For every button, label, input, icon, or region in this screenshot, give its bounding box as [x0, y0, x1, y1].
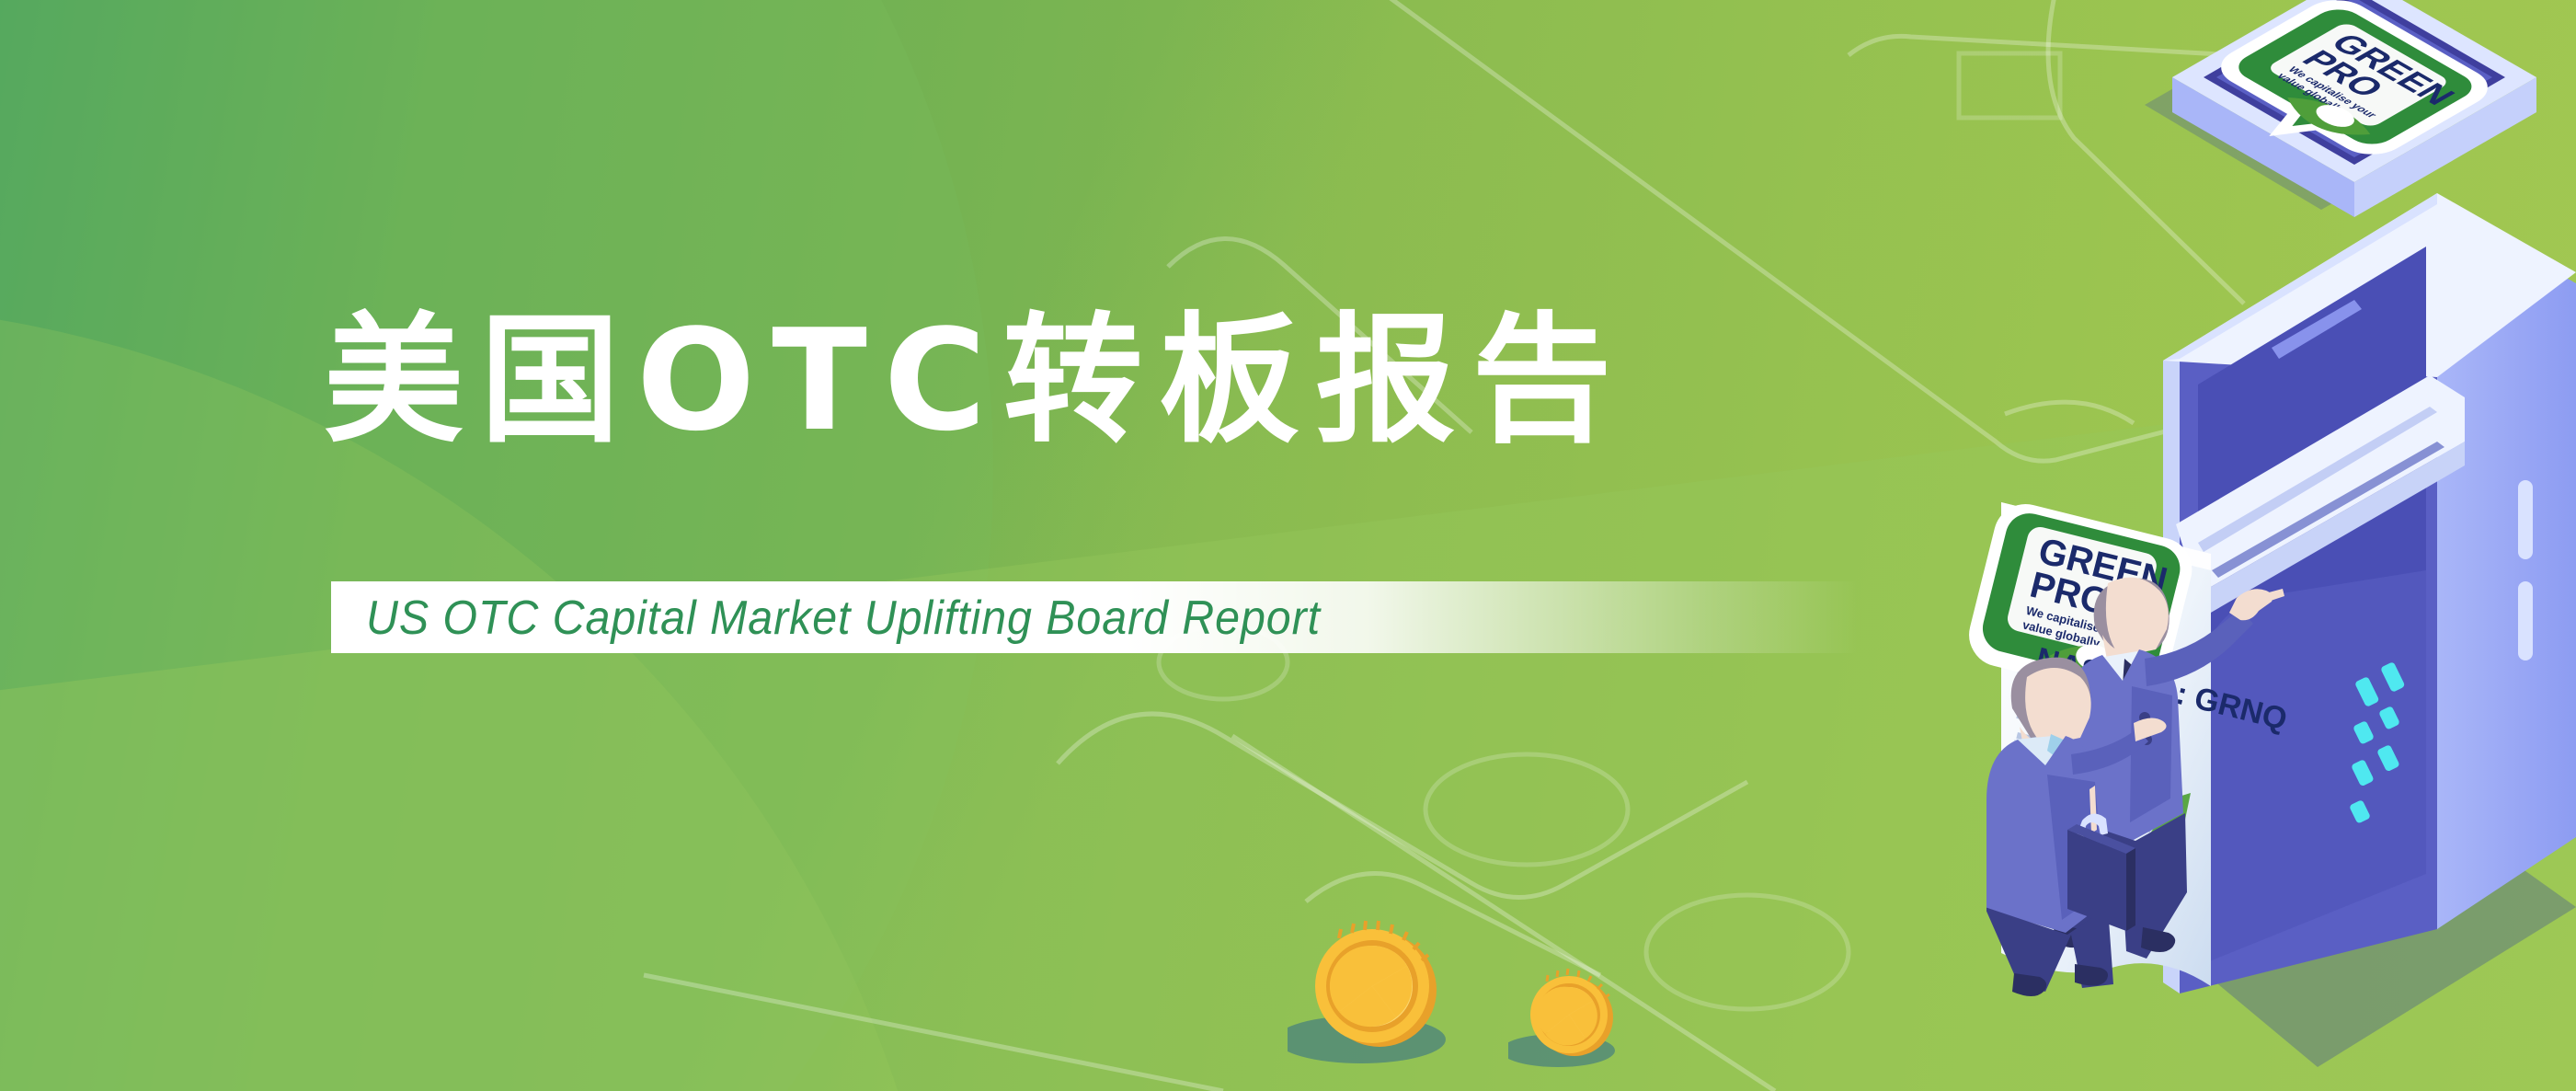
- gold-coin-large: [1288, 902, 1490, 1076]
- page-subtitle: US OTC Capital Market Uplifting Board Re…: [366, 589, 1321, 648]
- businessmen-group: [1986, 543, 2299, 1021]
- isometric-tablet: GREEN PRO We capitalise your value globa…: [2124, 0, 2575, 228]
- page-title: 美国OTC转板报告: [324, 311, 1628, 451]
- gold-coin-small: [1508, 957, 1646, 1076]
- otc-report-banner: GREEN PRO We capitalise your value globa…: [0, 0, 2576, 1091]
